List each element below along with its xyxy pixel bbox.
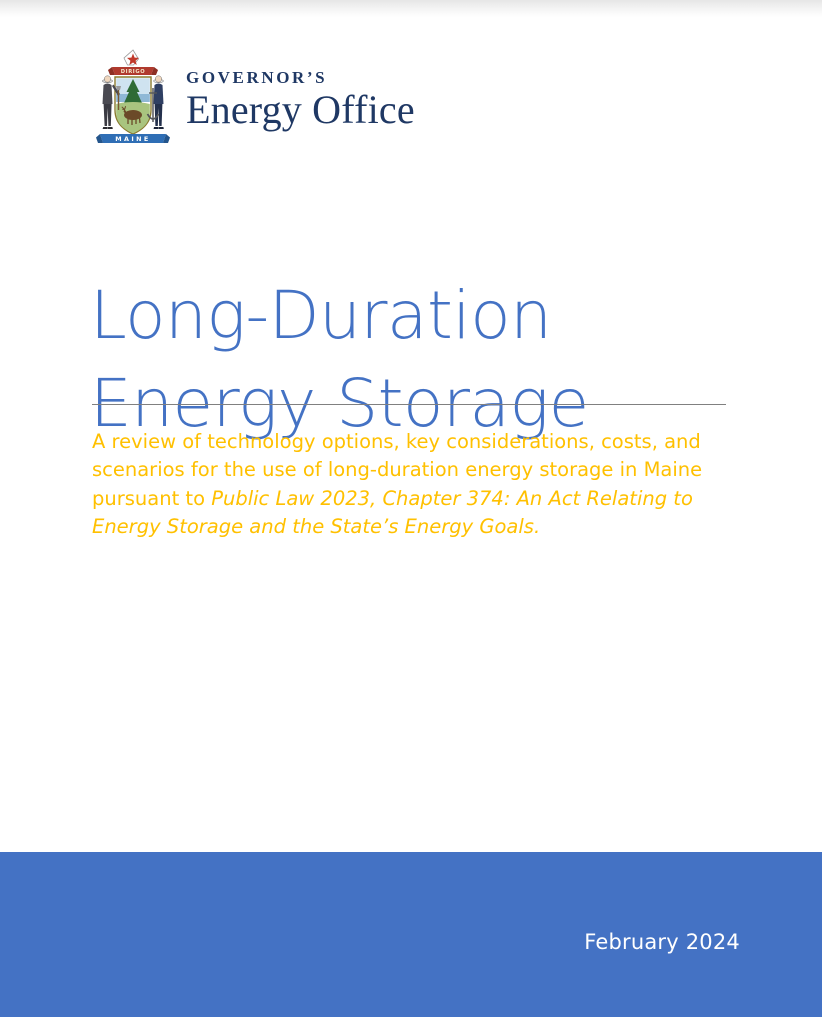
document-title: Long-Duration Energy Storage — [90, 272, 750, 448]
page-top-edge-shade — [0, 0, 822, 18]
organization-wordmark: GOVERNOR’S Energy Office — [186, 63, 415, 132]
svg-text:MAINE: MAINE — [115, 135, 150, 143]
organization-masthead: DIRIGO — [94, 48, 415, 148]
footer-band: February 2024 — [0, 852, 822, 1017]
publication-date: February 2024 — [584, 930, 740, 954]
svg-text:DIRIGO: DIRIGO — [121, 69, 145, 75]
document-cover-page: DIRIGO — [0, 0, 822, 1017]
document-subtitle: A review of technology options, key cons… — [92, 428, 717, 543]
wordmark-energy-office: Energy Office — [186, 88, 415, 133]
wordmark-governors: GOVERNOR’S — [186, 69, 415, 88]
title-divider-rule — [92, 404, 726, 405]
document-title-line-1: Long-Duration — [90, 272, 750, 360]
maine-state-seal-icon: DIRIGO — [94, 48, 172, 148]
